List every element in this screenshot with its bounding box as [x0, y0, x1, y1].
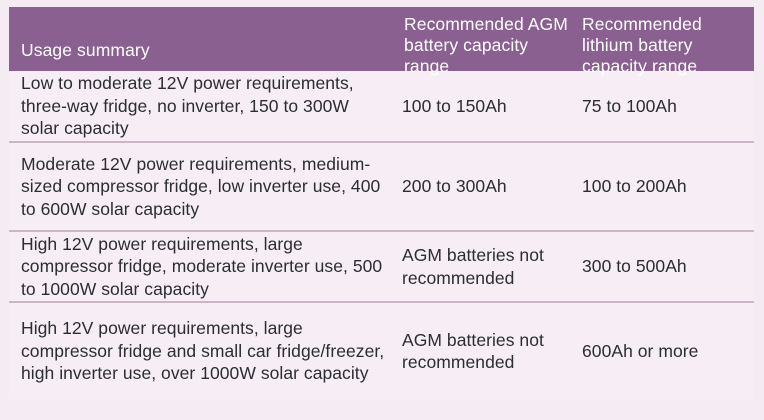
column-header-usage-summary: Usage summary: [9, 7, 402, 71]
cell-lithium-capacity: 600Ah or more: [582, 340, 754, 363]
table-row: Low to moderate 12V power requirements, …: [9, 71, 754, 143]
table-body: Low to moderate 12V power requirements, …: [9, 71, 754, 399]
cell-agm-capacity: 200 to 300Ah: [402, 175, 582, 198]
cell-usage-summary: High 12V power requirements, large compr…: [9, 317, 402, 385]
cell-agm-capacity: AGM batteries not recommended: [402, 329, 582, 374]
table-row: High 12V power requirements, large compr…: [9, 232, 754, 303]
cell-agm-capacity: 100 to 150Ah: [402, 95, 582, 118]
column-header-agm-capacity: Recommended AGM battery capacity range: [402, 7, 582, 71]
table-header-row: Usage summary Recommended AGM battery ca…: [9, 7, 754, 71]
cell-usage-summary: High 12V power requirements, large compr…: [9, 233, 402, 301]
battery-capacity-table: Usage summary Recommended AGM battery ca…: [9, 7, 754, 399]
cell-agm-capacity: AGM batteries not recommended: [402, 244, 582, 289]
cell-lithium-capacity: 300 to 500Ah: [582, 255, 754, 278]
cell-lithium-capacity: 75 to 100Ah: [582, 95, 754, 118]
table-row: Moderate 12V power requirements, medium-…: [9, 143, 754, 232]
cell-usage-summary: Low to moderate 12V power requirements, …: [9, 72, 402, 140]
cell-lithium-capacity: 100 to 200Ah: [582, 175, 754, 198]
cell-usage-summary: Moderate 12V power requirements, medium-…: [9, 153, 402, 221]
column-header-lithium-capacity: Recommended lithium battery capacity ran…: [582, 7, 754, 71]
table-row: High 12V power requirements, large compr…: [9, 303, 754, 399]
